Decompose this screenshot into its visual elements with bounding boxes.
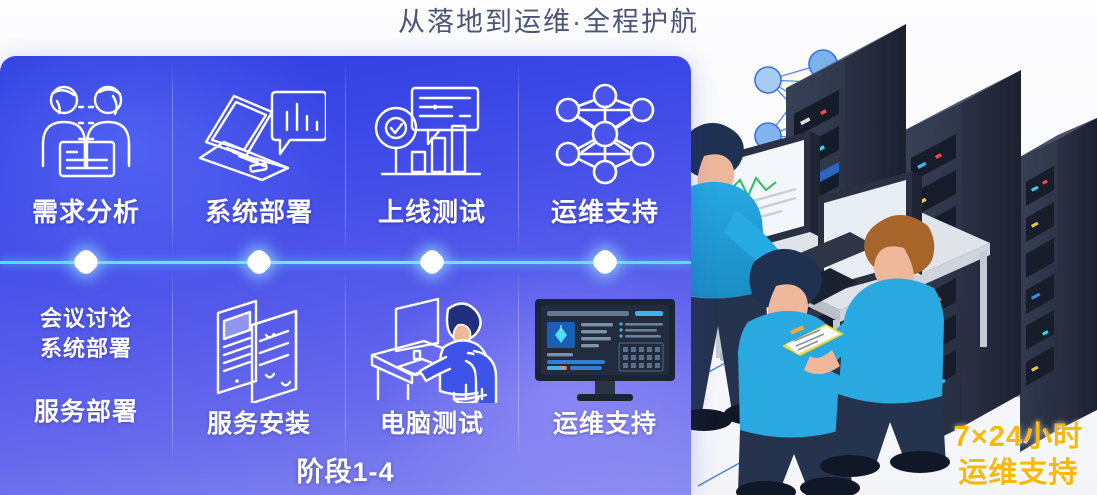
laptop-chart-icon [173,78,345,190]
stage-label-top-3: 上线测试 [346,192,518,229]
page-title: 从落地到运维·全程护航 [0,2,1097,46]
stage-label-bottom-1: 服务部署 [0,392,172,428]
stage-cell-bottom-4[interactable]: 运维支持 [519,294,691,440]
stage-cell-top-1[interactable]: 需求分析 [0,78,172,229]
stage-label-bottom-2: 服务安装 [173,404,345,440]
stage-timeline [0,261,691,264]
stage-label-top-2: 系统部署 [173,192,345,229]
support-line-1: 7×24小时 [954,419,1083,455]
stage-label-top-4: 运维支持 [519,192,691,229]
support-line-2: 运维支持 [954,455,1083,491]
stage-cell-bottom-2[interactable]: 服务安装 [173,294,345,440]
process-stages-card: 需求分析 系统部署 [0,56,691,495]
stage-cell-top-2[interactable]: 系统部署 [173,78,345,229]
stage-range-label: 阶段1-4 [0,450,691,489]
stage-label-bottom-3: 电脑测试 [346,404,518,440]
poster-canvas: 从落地到运维·全程护航 [0,0,1097,495]
stage-cell-bottom-3[interactable]: 电脑测试 [346,294,518,440]
stage-cell-top-3[interactable]: 上线测试 [346,78,518,229]
server-cabinets-icon [173,294,345,404]
two-people-discussion-icon [0,78,172,190]
stage-sublabel-bottom-1-line2: 系统部署 [0,334,172,364]
stage-cell-bottom-1[interactable]: 会议讨论 系统部署 服务部署 [0,294,172,428]
stage-cell-top-4[interactable]: 运维支持 [519,78,691,229]
dashboard-monitor-icon [519,294,691,404]
person-at-desk-icon [346,294,518,404]
stage-label-bottom-4: 运维支持 [519,404,691,440]
support-callout: 7×24小时 运维支持 [954,419,1083,491]
stage-sublabel-bottom-1-line1: 会议讨论 [0,304,172,334]
stage-label-top-1: 需求分析 [0,192,172,229]
checkmark-bar-chart-icon [346,78,518,190]
network-nodes-icon [519,78,691,190]
